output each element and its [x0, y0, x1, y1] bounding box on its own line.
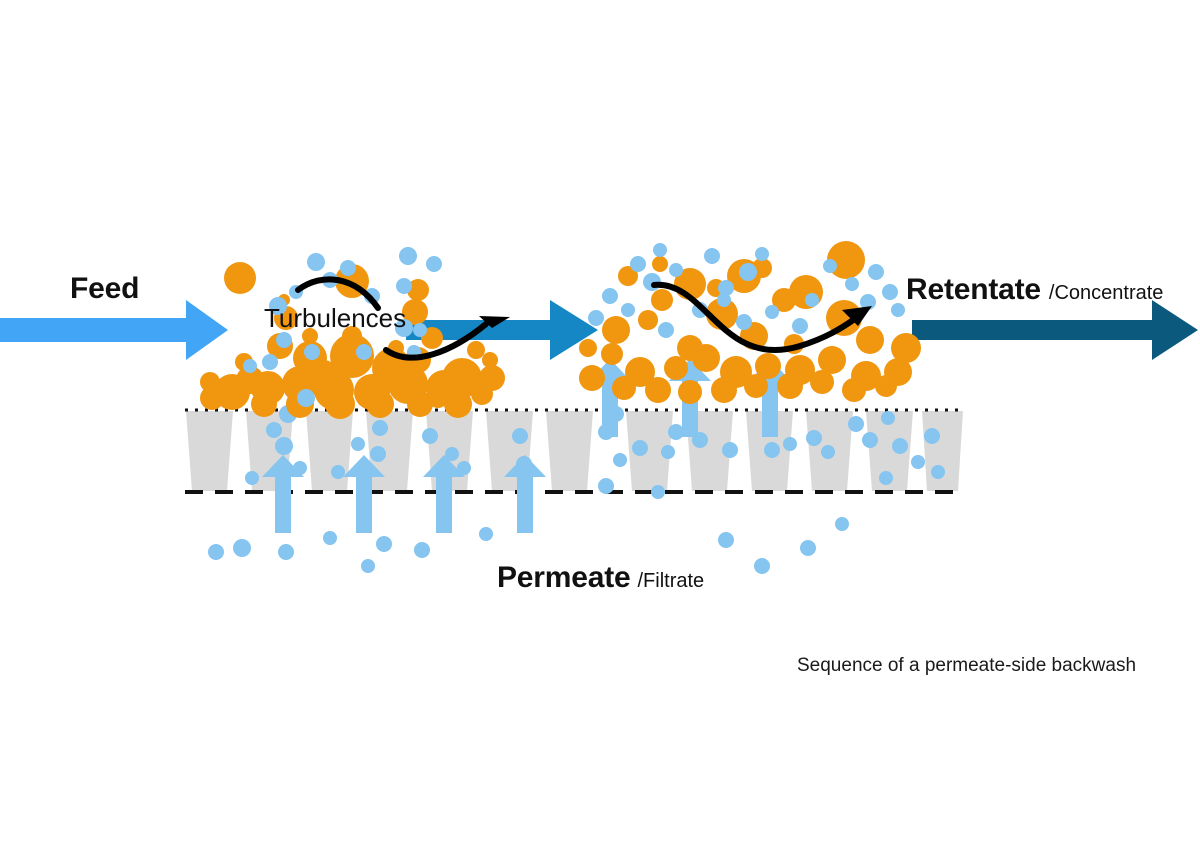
- feed-label: Feed: [70, 272, 139, 306]
- filtrate-sublabel: /Filtrate: [638, 570, 705, 593]
- retentate-label-group: Retentate /Concentrate: [906, 273, 1163, 307]
- diagram-caption: Sequence of a permeate-side backwash: [797, 655, 1136, 677]
- diagram-graphics: [0, 0, 1200, 845]
- permeate-label: Permeate: [497, 561, 631, 595]
- permeate-label-group: Permeate /Filtrate: [497, 561, 704, 595]
- retentate-arrow: [912, 300, 1198, 360]
- turbulences-label: Turbulences: [264, 303, 406, 334]
- membrane-pillars: [186, 411, 963, 491]
- feed-arrow: [0, 300, 228, 360]
- concentrate-sublabel: /Concentrate: [1049, 282, 1164, 305]
- retentate-label: Retentate: [906, 273, 1041, 307]
- diagram-canvas: Feed Turbulences Retentate /Concentrate …: [0, 0, 1200, 845]
